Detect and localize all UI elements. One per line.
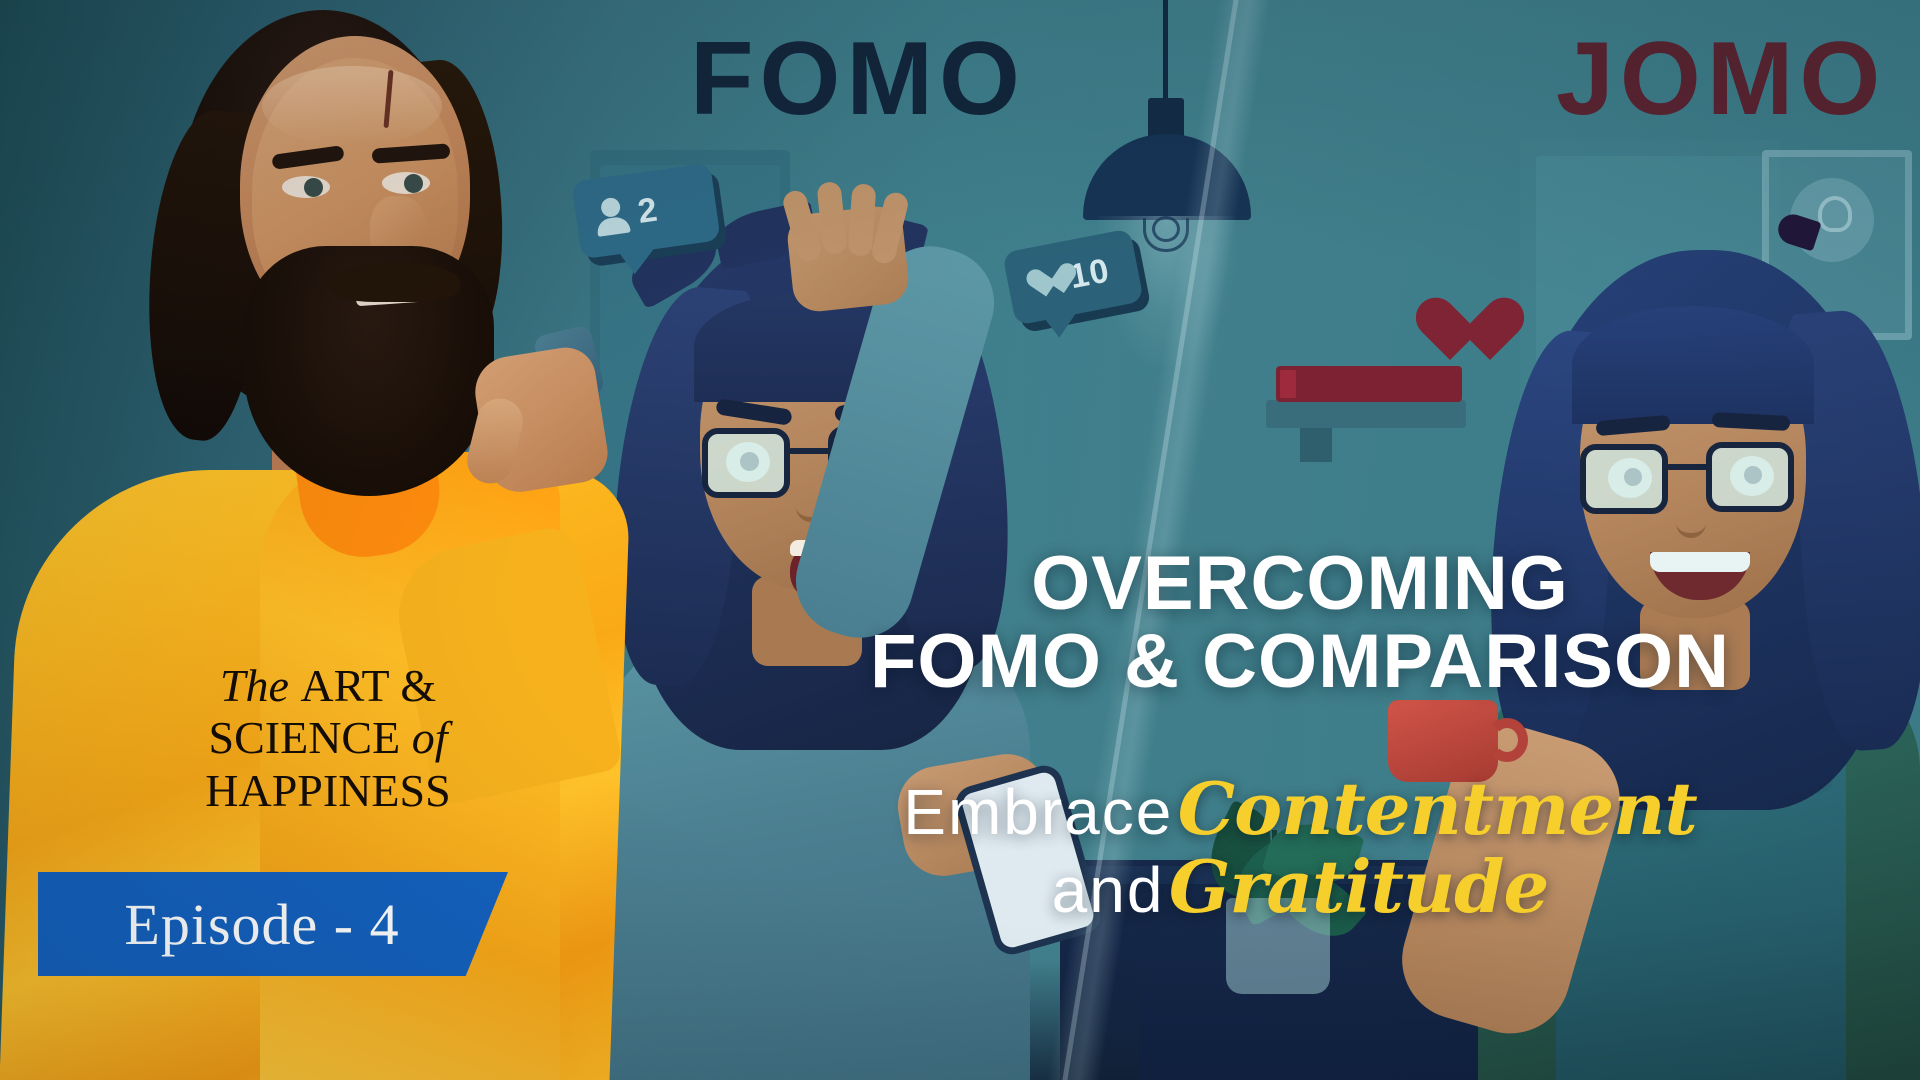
- glasses-lens-right: [1706, 442, 1794, 512]
- bubble-tail: [615, 240, 665, 276]
- speaker-moustache: [330, 262, 460, 302]
- glasses-bridge: [1666, 464, 1710, 470]
- series-line-2: SCIENCE of: [118, 712, 538, 764]
- speaker-pupil-left: [304, 178, 323, 197]
- series-branding: The ART & SCIENCE of HAPPINESS: [118, 660, 538, 817]
- subtitle-script-2: Gratitude: [1169, 844, 1548, 929]
- series-line-1: The ART &: [118, 660, 538, 712]
- shelf-leg: [1300, 428, 1332, 462]
- subtitle-plain-2: and: [1052, 854, 1165, 926]
- video-thumbnail: 2 10 FOMO JOMO OVERCOMING FOMO & COMPARI…: [0, 0, 1920, 1080]
- followers-count: 2: [636, 193, 660, 229]
- jomo-label: JOMO: [1556, 20, 1886, 139]
- lightbulb-filament-icon: [1152, 216, 1180, 242]
- series-science: SCIENCE: [209, 712, 412, 763]
- subtitle: Embrace Contentment and Gratitude: [690, 770, 1910, 926]
- title-line-1: OVERCOMING: [690, 545, 1910, 623]
- series-the: The: [220, 660, 301, 711]
- heart-icon: [1024, 264, 1063, 302]
- heart-icon: [1412, 300, 1488, 370]
- speaker-forehead-highlight: [262, 66, 442, 146]
- glasses-lens-left: [1580, 444, 1668, 514]
- person-icon: [592, 196, 631, 236]
- jomo-hairline: [1572, 306, 1814, 424]
- lamp-cord-icon: [1163, 0, 1168, 104]
- subtitle-line-2: and Gratitude: [690, 848, 1910, 926]
- title-line-2: FOMO & COMPARISON: [690, 623, 1910, 701]
- glasses-bridge: [788, 448, 832, 454]
- speaker-pupil-right: [404, 174, 423, 193]
- books-icon: [1276, 366, 1462, 402]
- shelf-icon: [1266, 400, 1466, 428]
- mug-handle-icon: [1486, 718, 1528, 762]
- subtitle-line-1: Embrace Contentment: [690, 770, 1910, 848]
- subtitle-plain-1: Embrace: [903, 776, 1173, 848]
- glasses-lens-left: [702, 428, 790, 498]
- episode-badge: Episode - 4: [38, 872, 508, 976]
- series-of: of: [412, 712, 448, 763]
- subtitle-script-1: Contentment: [1178, 766, 1697, 851]
- jomo-glasses-icon: [1580, 442, 1808, 518]
- main-title: OVERCOMING FOMO & COMPARISON: [690, 545, 1910, 702]
- series-line-3: HAPPINESS: [118, 765, 538, 817]
- fomo-label: FOMO: [690, 20, 1026, 139]
- episode-label: Episode - 4: [124, 891, 421, 958]
- bulb-doodle-filament: [1818, 196, 1852, 232]
- book-spine-icon: [1280, 370, 1296, 398]
- series-art: ART &: [300, 660, 436, 711]
